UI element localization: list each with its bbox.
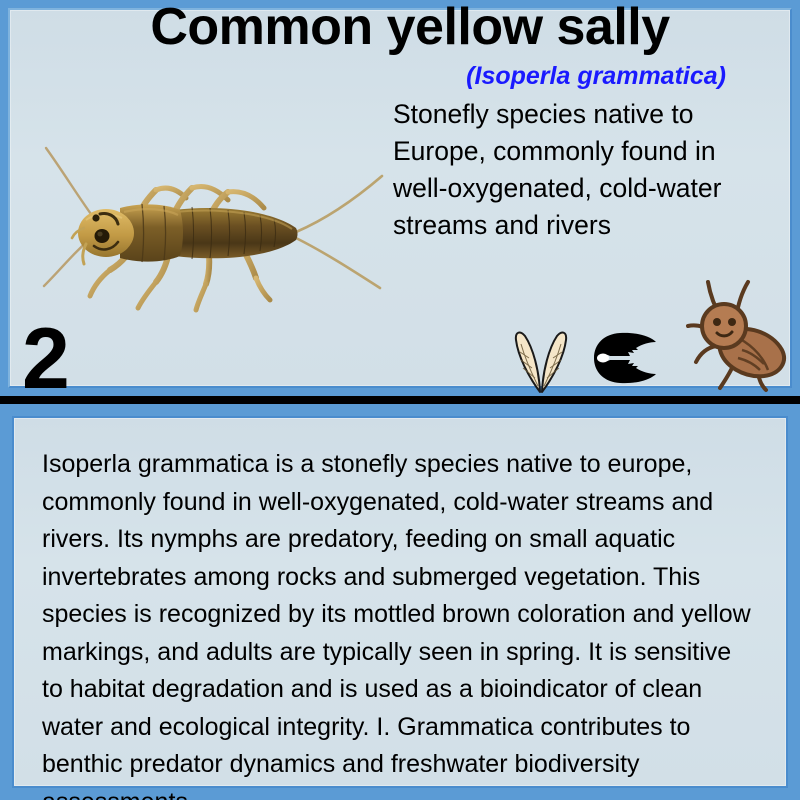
species-description-card: Isoperla grammatica is a stonefly specie… (0, 404, 800, 800)
species-description-text: Isoperla grammatica is a stonefly specie… (42, 446, 758, 800)
insect-wings-icon (510, 326, 572, 394)
card-divider (0, 396, 800, 404)
species-blurb: Stonefly species native to Europe, commo… (393, 96, 738, 244)
species-description-card-inner: Isoperla grammatica is a stonefly specie… (12, 416, 788, 788)
scientific-name: (Isoperla grammatica) (10, 62, 788, 91)
card-number-badge: 2 (22, 316, 70, 402)
species-info-poster: Common yellow sally (Isoperla grammatica… (0, 0, 800, 800)
page-title: Common yellow sally (10, 0, 800, 58)
stonefly-nymph-photo (24, 128, 424, 338)
attribute-icon-row (510, 276, 788, 394)
cockroach-icon (676, 276, 794, 394)
species-header-card-inner: Common yellow sally (Isoperla grammatica… (8, 8, 792, 388)
species-header-card: Common yellow sally (Isoperla grammatica… (0, 0, 800, 396)
claw-pincer-icon (588, 330, 660, 386)
